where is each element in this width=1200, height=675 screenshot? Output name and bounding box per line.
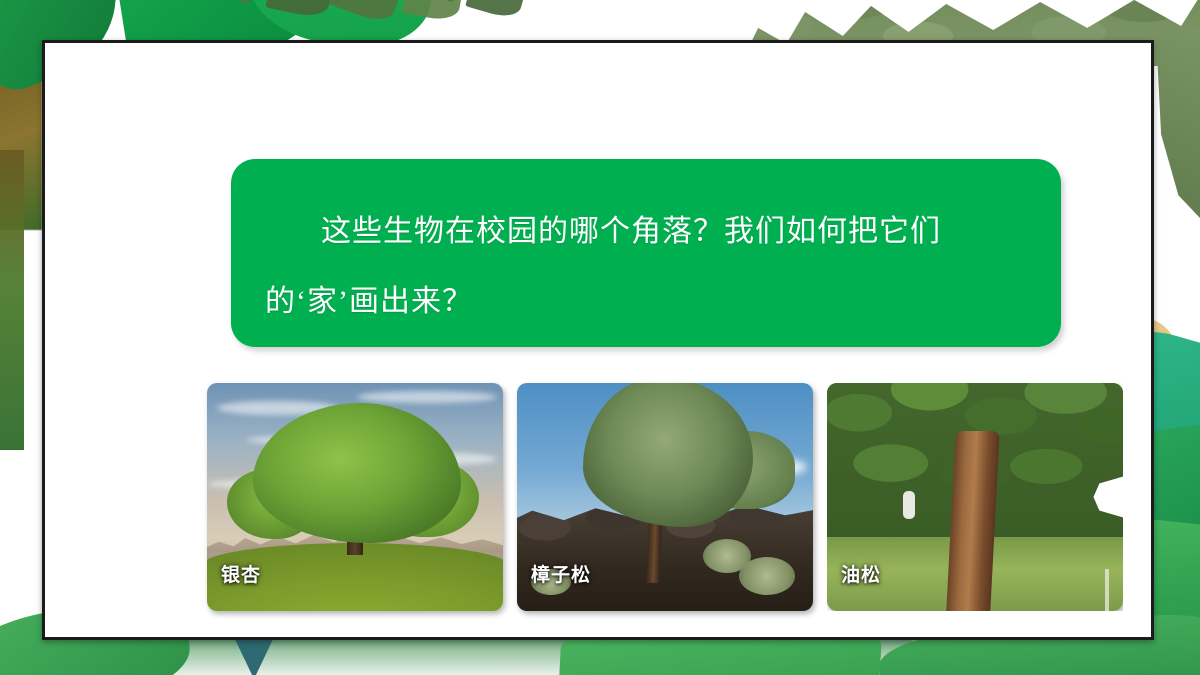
photo-caption: 银杏 bbox=[221, 560, 261, 587]
photo-card-chinese-red-pine[interactable]: 油松 bbox=[827, 383, 1123, 611]
photo-caption: 油松 bbox=[841, 560, 881, 587]
question-speech-bubble: 这些生物在校园的哪个角落？我们如何把它们的‘家’画出来？ bbox=[231, 159, 1061, 347]
photo-card-ginkgo[interactable]: 银杏 bbox=[207, 383, 503, 611]
photo-card-mongolian-pine[interactable]: 樟子松 bbox=[517, 383, 813, 611]
photo-card-row: 银杏 樟子松 bbox=[207, 383, 1077, 611]
slide-panel: 这些生物在校园的哪个角落？我们如何把它们的‘家’画出来？ 银杏 bbox=[42, 40, 1154, 640]
question-text: 这些生物在校园的哪个角落？我们如何把它们的‘家’画出来？ bbox=[265, 197, 1027, 337]
photo-caption: 樟子松 bbox=[531, 560, 591, 587]
tree-trunk-decor-left-lower bbox=[0, 150, 24, 450]
